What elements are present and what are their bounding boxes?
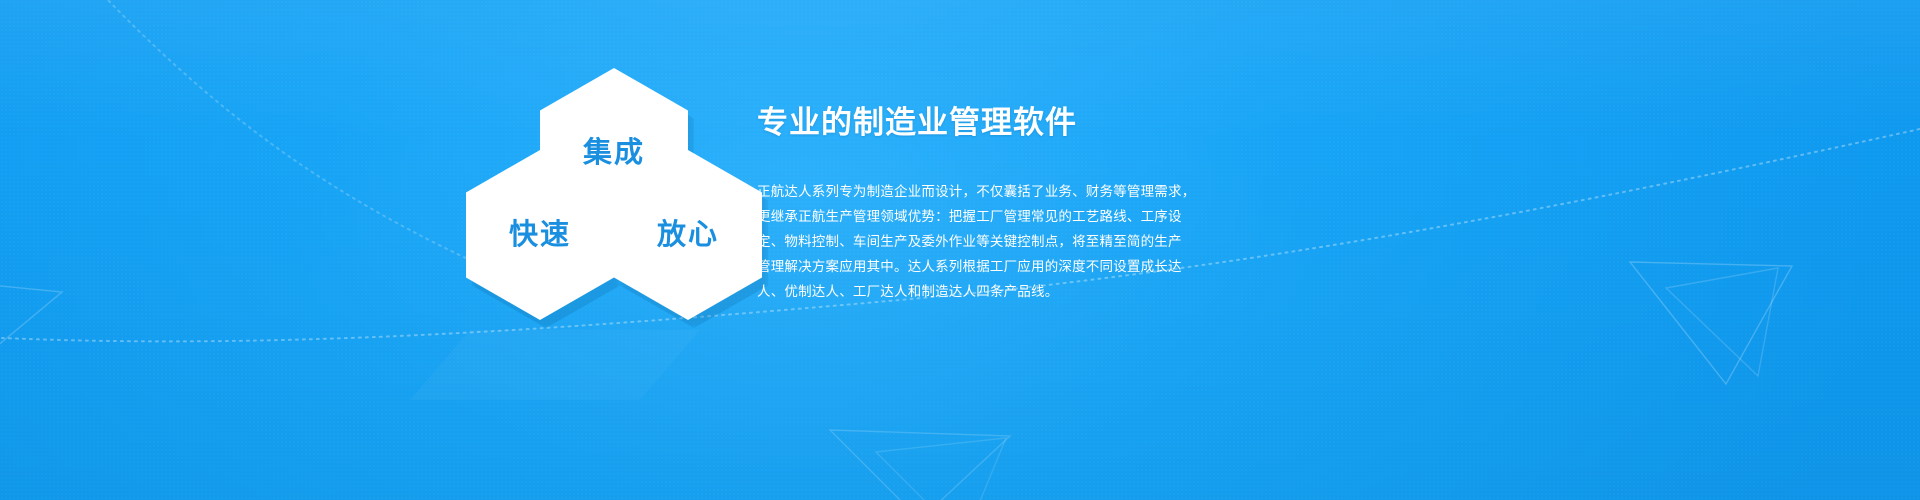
copy-block: 专业的制造业管理软件 正航达人系列专为制造企业而设计，不仅囊括了业务、财务等管理… (757, 104, 1227, 304)
hexagon-label-fast: 快速 (509, 221, 571, 250)
paragraph-line: 定、物料控制、车间生产及委外作业等关键控制点，将至精至简的生产 (757, 229, 1227, 254)
headline: 专业的制造业管理软件 (757, 104, 1227, 141)
paragraph-line: 人、优制达人、工厂达人和制造达人四条产品线。 (757, 279, 1227, 304)
hexagon-cluster: 集成 快速 放心 (418, 60, 718, 330)
body-paragraph: 正航达人系列专为制造企业而设计，不仅囊括了业务、财务等管理需求， 更继承正航生产… (757, 179, 1227, 304)
hexagon-label-reassuring: 放心 (657, 221, 719, 250)
paragraph-line: 更继承正航生产管理领域优势：把握工厂管理常见的工艺路线、工序设 (757, 204, 1227, 229)
paragraph-line: 正航达人系列专为制造企业而设计，不仅囊括了业务、财务等管理需求， (757, 179, 1227, 204)
paragraph-line: 管理解决方案应用其中。达人系列根据工厂应用的深度不同设置成长达 (757, 254, 1227, 279)
hexagon-label-integration: 集成 (583, 139, 645, 168)
promo-banner: 集成 快速 放心 专业的制造业管理软件 正航达人系列专为制造企业而设计，不仅囊括… (0, 0, 1920, 500)
